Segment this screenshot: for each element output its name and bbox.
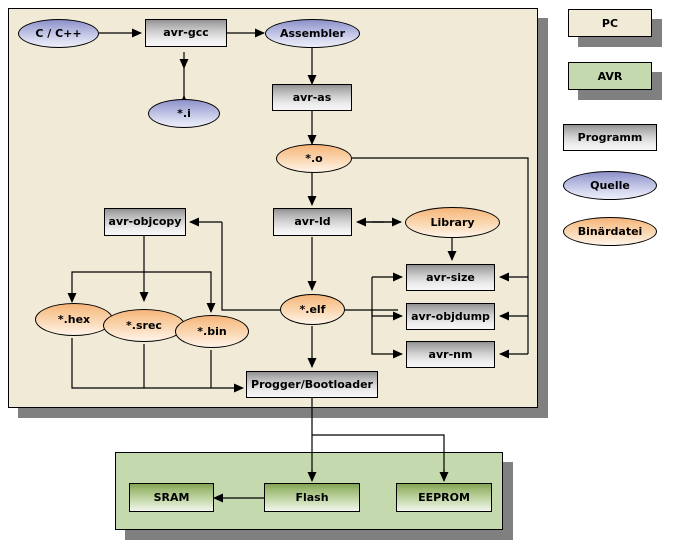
node-dot-o[interactable]: *.o [276,144,352,173]
node-avr-ld[interactable]: avr-ld [273,208,352,236]
node-avr-as[interactable]: avr-as [272,84,352,111]
node-flash[interactable]: Flash [264,483,360,512]
node-dot-hex[interactable]: *.hex [35,303,113,336]
legend-item-pc[interactable]: PC [568,9,652,37]
legend-item-quelle[interactable]: Quelle [563,171,657,200]
node-avr-objcopy[interactable]: avr-objcopy [104,208,186,236]
diagram-canvas: C / C++ avr-gcc Assembler *.i avr-as *.o… [0,0,675,552]
node-avr-objdump[interactable]: avr-objdump [406,303,495,330]
node-sram[interactable]: SRAM [129,483,214,512]
node-avr-gcc[interactable]: avr-gcc [145,19,227,47]
node-library[interactable]: Library [405,207,500,238]
node-dot-srec[interactable]: *.srec [103,309,185,342]
node-assembler[interactable]: Assembler [265,19,360,48]
node-progger-bootloader[interactable]: Progger/Bootloader [246,371,378,398]
node-avr-size[interactable]: avr-size [406,264,495,291]
node-avr-nm[interactable]: avr-nm [406,341,495,368]
node-eeprom[interactable]: EEPROM [396,483,492,512]
node-c-cpp[interactable]: C / C++ [18,19,99,48]
legend-item-binaerdatei[interactable]: Binärdatei [563,217,657,246]
node-dot-elf[interactable]: *.elf [280,294,345,325]
node-dot-bin[interactable]: *.bin [175,315,249,348]
legend-item-avr[interactable]: AVR [568,62,652,90]
legend-item-programm[interactable]: Programm [563,124,657,151]
node-dot-i[interactable]: *.i [148,99,220,128]
